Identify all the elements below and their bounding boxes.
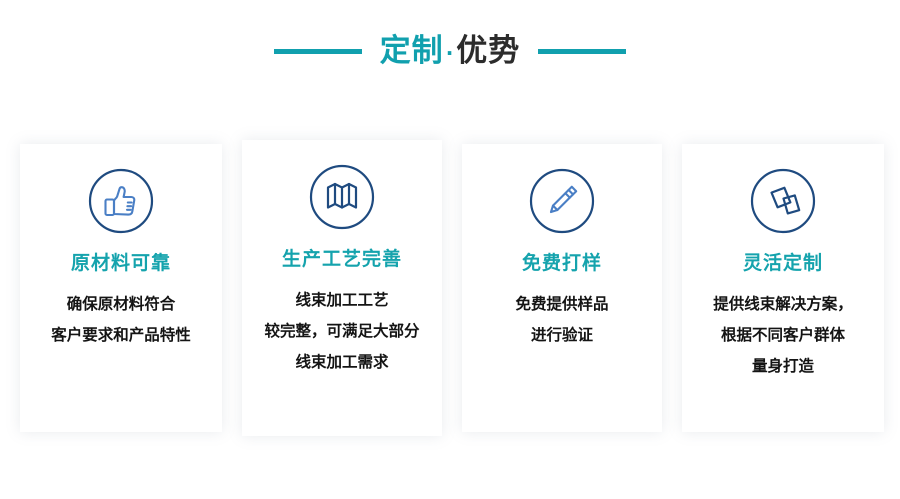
description-line: 根据不同客户群体 xyxy=(688,320,878,351)
description-line: 量身打造 xyxy=(688,351,878,382)
feature-card-raw-material[interactable]: 原材料可靠 确保原材料符合 客户要求和产品特性 xyxy=(20,144,222,432)
description-line: 进行验证 xyxy=(468,320,656,351)
feature-card-description: 线束加工工艺 较完整，可满足大部分 线束加工需求 xyxy=(242,285,442,378)
description-line: 较完整，可满足大部分 xyxy=(248,316,436,347)
pencil-icon xyxy=(527,166,597,236)
feature-card-free-sample[interactable]: 免费打样 免费提供样品 进行验证 xyxy=(462,144,662,432)
feature-card-title: 生产工艺完善 xyxy=(282,250,402,269)
feature-card-row: 原材料可靠 确保原材料符合 客户要求和产品特性 生产工艺完善 线束加工工艺 较完… xyxy=(0,140,900,440)
feature-card-title: 免费打样 xyxy=(522,254,602,273)
description-line: 确保原材料符合 xyxy=(26,289,216,320)
heading-rule-right xyxy=(538,49,626,54)
feature-card-description: 提供线束解决方案， 根据不同客户群体 量身打造 xyxy=(682,289,884,382)
page-title-separator: · xyxy=(444,41,457,65)
page-title: 定制·优势 xyxy=(380,36,521,67)
description-line: 免费提供样品 xyxy=(468,289,656,320)
page-title-main: 优势 xyxy=(456,33,520,69)
description-line: 线束加工需求 xyxy=(248,347,436,378)
page-title-accent: 定制 xyxy=(380,33,444,69)
description-line: 线束加工工艺 xyxy=(248,285,436,316)
thumbs-up-icon xyxy=(86,166,156,236)
stacked-cards-icon xyxy=(748,166,818,236)
feature-card-description: 免费提供样品 进行验证 xyxy=(462,289,662,351)
description-line: 客户要求和产品特性 xyxy=(26,320,216,351)
feature-card-title: 原材料可靠 xyxy=(71,254,171,273)
folded-map-icon xyxy=(307,162,377,232)
feature-card-title: 灵活定制 xyxy=(743,254,823,273)
description-line: 提供线束解决方案， xyxy=(688,289,878,320)
section-heading: 定制·优势 xyxy=(0,36,900,67)
feature-card-description: 确保原材料符合 客户要求和产品特性 xyxy=(20,289,222,351)
feature-card-production-process[interactable]: 生产工艺完善 线束加工工艺 较完整，可满足大部分 线束加工需求 xyxy=(242,140,442,436)
feature-card-flexible-customization[interactable]: 灵活定制 提供线束解决方案， 根据不同客户群体 量身打造 xyxy=(682,144,884,432)
heading-rule-left xyxy=(274,49,362,54)
